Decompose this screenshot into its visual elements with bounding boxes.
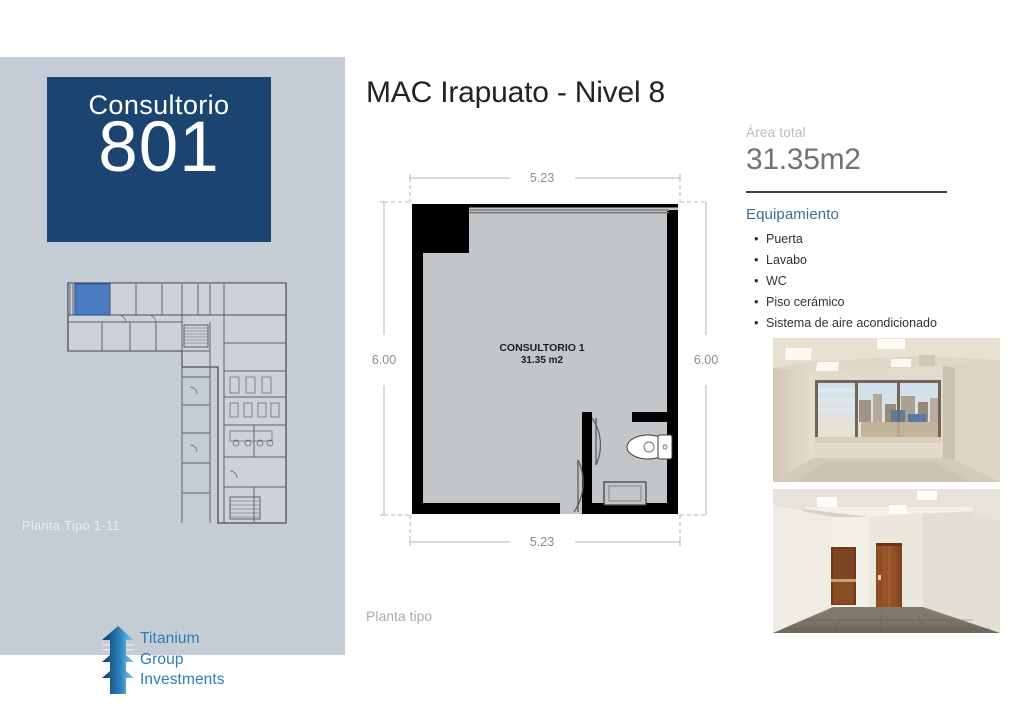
list-item: Sistema de aire acondicionado	[746, 313, 994, 334]
area-total-value: 31.35m2	[746, 142, 994, 179]
interior-door-image	[773, 489, 1000, 633]
dimension-right: 6.00	[694, 353, 718, 367]
badge-number: 801	[98, 115, 219, 180]
list-item: WC	[746, 271, 994, 292]
room-label: CONSULTORIO 1	[499, 342, 585, 354]
titanium-chevron-icon	[100, 624, 136, 696]
wc-fixture	[627, 435, 672, 459]
dimension-bottom: 5.23	[530, 535, 554, 549]
key-plan[interactable]	[58, 275, 303, 530]
area-total-label: Área total	[746, 125, 994, 141]
list-item: Lavabo	[746, 250, 994, 271]
interior-photo-window[interactable]	[773, 338, 1000, 482]
room-area: 31.35 m2	[521, 355, 564, 366]
interior-photo-door[interactable]	[773, 489, 1000, 633]
page-title: MAC Irapuato - Nivel 8	[366, 76, 665, 110]
floor-plan-caption: Planta tipo	[366, 608, 432, 624]
logo-line-3: Investments	[140, 670, 225, 691]
logo-line-1: Titanium	[140, 629, 225, 650]
unit-badge: Consultorio 801	[47, 77, 271, 242]
dimension-left: 6.00	[372, 353, 396, 367]
divider	[746, 191, 947, 193]
left-panel: Consultorio 801	[0, 57, 345, 655]
lavabo-fixture	[604, 482, 646, 505]
brochure-page: Consultorio 801	[0, 0, 1024, 724]
list-item: Puerta	[746, 229, 994, 250]
company-logo: Titanium Group Investments	[100, 624, 225, 696]
key-plan-drawing	[58, 275, 303, 530]
interior-window-image	[773, 338, 1000, 482]
floor-plan-drawing: 5.23 5.23 6.00	[370, 160, 720, 560]
dimension-top: 5.23	[530, 171, 554, 185]
info-panel: Área total 31.35m2 Equipamiento Puerta L…	[746, 125, 994, 334]
equipment-title: Equipamiento	[746, 206, 994, 223]
list-item: Piso cerámico	[746, 292, 994, 313]
floor-plan[interactable]: 5.23 5.23 6.00	[370, 160, 720, 560]
equipment-list: Puerta Lavabo WC Piso cerámico Sistema d…	[746, 229, 994, 334]
logo-line-2: Group	[140, 650, 225, 671]
key-plan-caption: Planta Tipo 1-11	[22, 519, 120, 533]
